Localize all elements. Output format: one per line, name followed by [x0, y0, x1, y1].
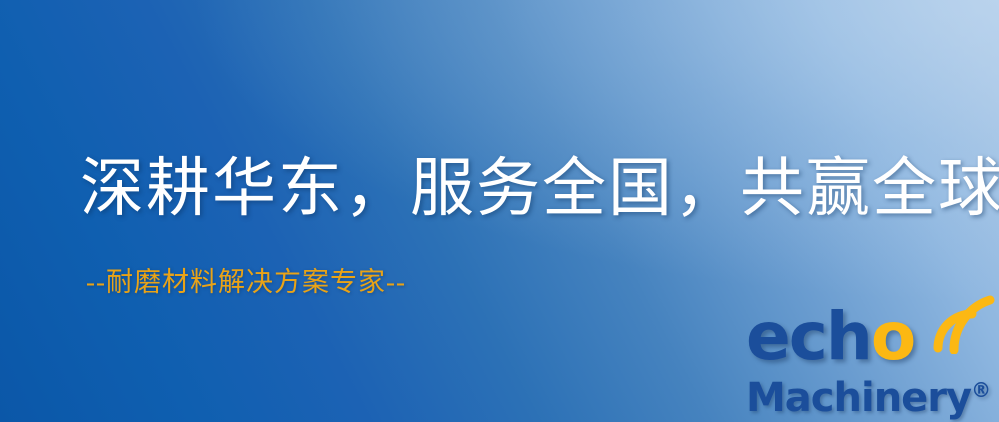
logo-wordmark: echo	[746, 304, 914, 370]
logo-company-name: Machinery®	[746, 368, 991, 420]
logo-wordmark-ech: ech	[746, 298, 871, 375]
banner-subtitle: --耐磨材料解决方案专家--	[86, 265, 406, 299]
logo-mark: echo	[744, 298, 996, 378]
logo-wordmark-o: o	[871, 298, 914, 375]
logo-company-name-text: Machinery	[746, 375, 971, 421]
company-logo: echo Machinery®	[744, 298, 996, 422]
signal-arcs-icon	[932, 294, 996, 354]
banner-headline: 深耕华东，服务全国，共赢全球	[80, 152, 999, 226]
promotional-banner: 深耕华东，服务全国，共赢全球 --耐磨材料解决方案专家-- echo Machi…	[0, 0, 999, 422]
registered-trademark-icon: ®	[971, 378, 991, 402]
